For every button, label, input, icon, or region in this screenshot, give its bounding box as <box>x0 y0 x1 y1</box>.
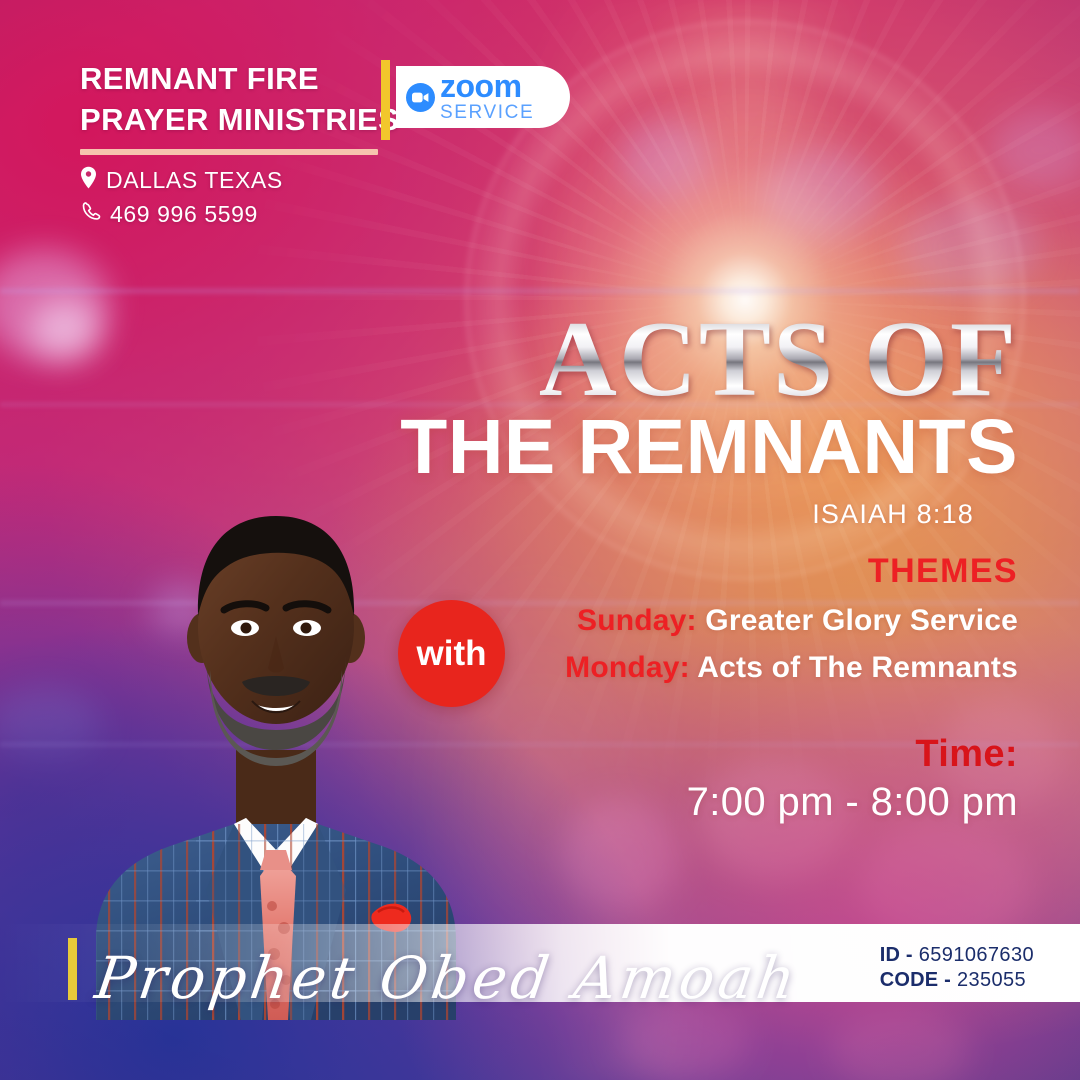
time-section: Time: 7:00 pm - 8:00 pm <box>687 733 1018 825</box>
scripture-reference: ISAIAH 8:18 <box>400 499 974 530</box>
theme-day-label: Sunday: <box>577 604 697 637</box>
zoom-meeting-info: ID - 6591067630 CODE - 235055 <box>880 943 1034 994</box>
meeting-code-value: 235055 <box>957 969 1026 991</box>
theme-title: Acts of The Remnants <box>697 651 1018 684</box>
time-label: Time: <box>687 733 1018 776</box>
title-line-the-remnants: THE REMNANTS <box>400 408 1018 487</box>
phone-row: 469 996 5599 <box>80 201 283 228</box>
theme-day-label: Monday: <box>565 651 690 684</box>
brand-header: REMNANT FIRE PRAYER MINISTRIES <box>80 58 399 155</box>
title-line-acts-of: ACTS OF <box>400 306 1018 414</box>
zoom-service-label: SERVICE <box>440 103 534 122</box>
with-badge: with <box>398 600 505 707</box>
time-value: 7:00 pm - 8:00 pm <box>687 780 1018 825</box>
phone-icon <box>80 201 101 228</box>
header-yellow-divider <box>381 60 390 140</box>
themes-section: THEMES Sunday: Greater Glory Service Mon… <box>565 552 1018 685</box>
zoom-camera-icon <box>406 83 435 112</box>
zoom-wordmark: zoom <box>440 70 534 102</box>
location-row: DALLAS TEXAS <box>80 166 283 195</box>
meeting-code-label: CODE - <box>880 969 951 991</box>
themes-heading: THEMES <box>565 552 1018 591</box>
theme-row: Monday: Acts of The Remnants <box>565 651 1018 685</box>
event-title-block: ACTS OF THE REMNANTS ISAIAH 8:18 <box>400 306 1018 530</box>
phone-text: 469 996 5599 <box>110 201 258 228</box>
theme-row: Sunday: Greater Glory Service <box>565 604 1018 638</box>
meeting-id-label: ID - <box>880 944 913 966</box>
speaker-name: Prophet Obed Amoah <box>91 944 803 1012</box>
zoom-service-badge: zoom SERVICE <box>396 66 570 128</box>
location-text: DALLAS TEXAS <box>106 167 283 194</box>
map-pin-icon <box>80 166 97 195</box>
meeting-id-row: ID - 6591067630 <box>880 943 1034 969</box>
speaker-name-accent-bar <box>68 938 77 1000</box>
meeting-id-value: 6591067630 <box>919 944 1034 966</box>
flyer-canvas: REMNANT FIRE PRAYER MINISTRIES zoom SERV… <box>0 0 1080 1080</box>
meeting-code-row: CODE - 235055 <box>880 968 1034 994</box>
theme-title: Greater Glory Service <box>705 604 1018 637</box>
organization-name: REMNANT FIRE PRAYER MINISTRIES <box>80 58 399 140</box>
organization-underline <box>80 149 378 155</box>
contact-info: DALLAS TEXAS 469 996 5599 <box>80 166 283 234</box>
